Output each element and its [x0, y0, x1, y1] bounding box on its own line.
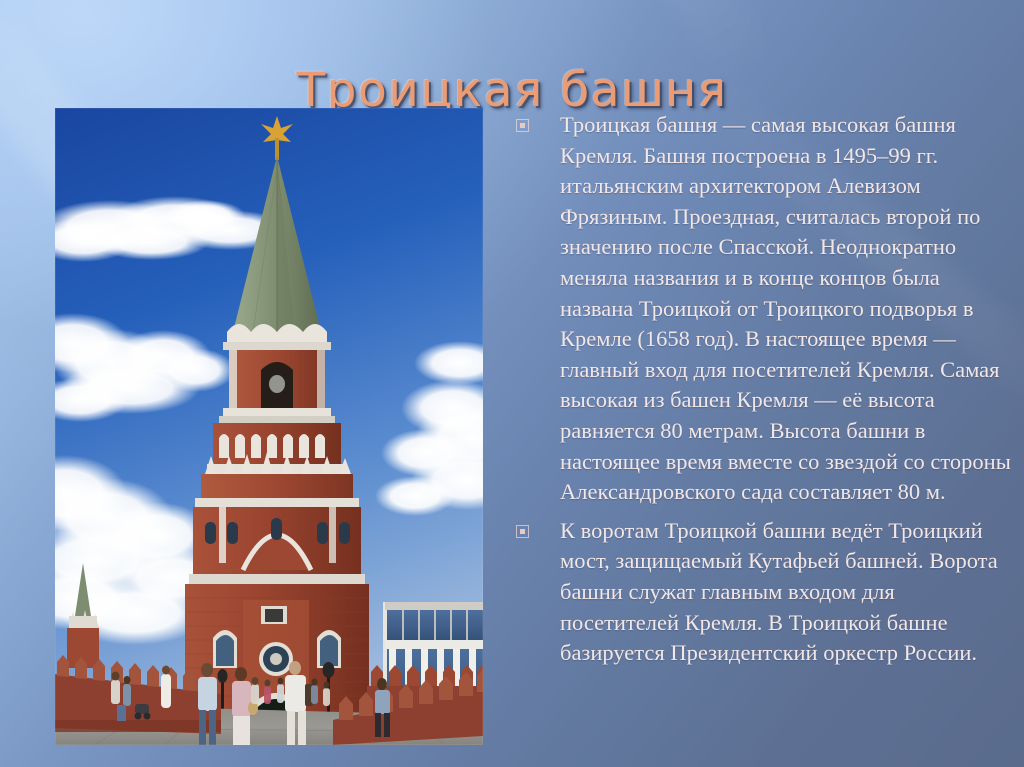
- tower-photo-illustration: [55, 108, 483, 745]
- square-bullet-icon: [516, 119, 529, 132]
- paragraph-text: Троицкая башня — самая высокая башня Кре…: [560, 110, 1016, 508]
- tower-belfry: [219, 350, 335, 423]
- paragraph-text: К воротам Троицкой башни ведёт Троицкий …: [560, 516, 1016, 669]
- square-bullet-icon: [516, 525, 529, 538]
- slide-body-text: Троицкая башня — самая высокая башня Кре…: [516, 110, 1016, 677]
- bullet-paragraph: Троицкая башня — самая высокая башня Кре…: [516, 110, 1016, 508]
- tower-upper-body: [189, 507, 365, 584]
- presentation-slide: Троицкая башня: [0, 0, 1024, 767]
- tower-photograph: [55, 108, 483, 745]
- bullet-paragraph: К воротам Троицкой башни ведёт Троицкий …: [516, 516, 1016, 669]
